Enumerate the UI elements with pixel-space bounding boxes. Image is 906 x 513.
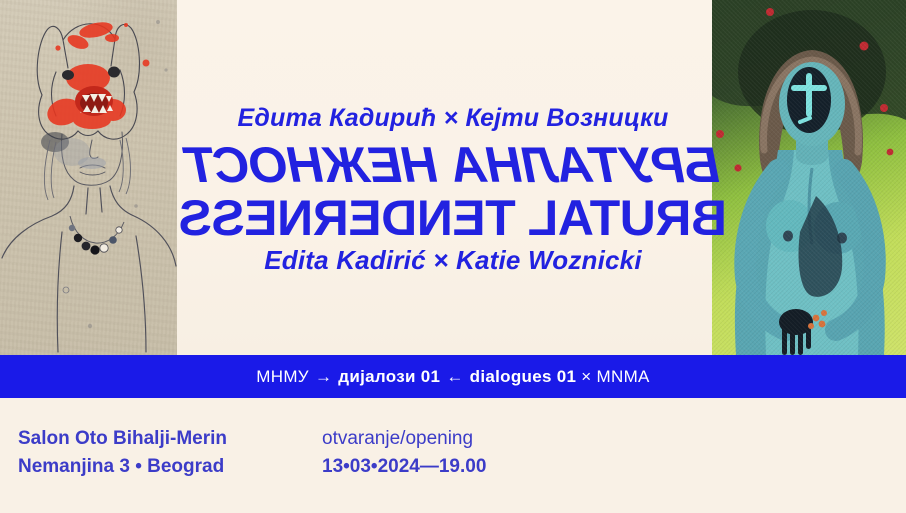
footer: Salon Oto Bihalji-Merin Nemanjina 3 • Be… — [0, 398, 906, 513]
banner-series-cyrillic: дијалози 01 — [338, 367, 440, 386]
opening-date: 13•03•2024—19.00 — [322, 453, 486, 481]
venue-block: Salon Oto Bihalji-Merin Nemanjina 3 • Be… — [18, 425, 227, 481]
necklace-beads — [69, 225, 122, 255]
banner-series-latin: dialogues 01 — [470, 367, 577, 386]
banner-org-left: МНМУ — [256, 367, 309, 386]
banner-separator: × — [581, 367, 591, 386]
arrow-left-icon: ← — [445, 367, 464, 386]
banner-org-right: MNMA — [597, 367, 650, 386]
artwork-left — [0, 0, 177, 355]
venue-line-2: Nemanjina 3 • Beograd — [18, 453, 227, 481]
artwork-left-drawing — [0, 0, 177, 355]
exhibition-poster: Едита Кадирић × Кејти Возницки БРУТАЛНА … — [0, 0, 906, 513]
dialogues-banner: МНМУ → дијалози 01 ← dialogues 01 × MNMA — [0, 355, 906, 398]
opening-label: otvaranje/opening — [322, 425, 486, 453]
canvas-texture — [712, 0, 906, 355]
arrow-right-icon: → — [314, 367, 333, 386]
banner-text: МНМУ → дијалози 01 ← dialogues 01 × MNMA — [256, 367, 649, 387]
visual-band — [0, 0, 906, 355]
venue-line-1: Salon Oto Bihalji-Merin — [18, 425, 227, 453]
artwork-right — [712, 0, 906, 355]
center-typography-panel — [177, 0, 712, 355]
opening-block: otvaranje/opening 13•03•2024—19.00 — [322, 425, 486, 481]
mask-mouth — [75, 86, 113, 116]
